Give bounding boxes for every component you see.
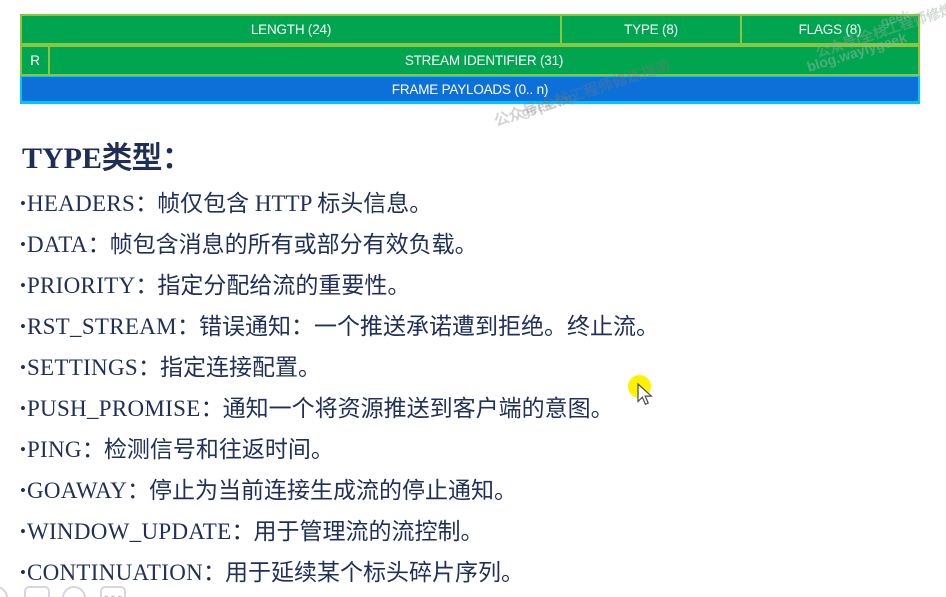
list-bullet: • [20,440,26,459]
frame-field-r-label: R [30,53,40,68]
list-item-desc: 检测信号和往返时间。 [104,437,334,462]
list-item-name: GOAWAY [27,478,127,503]
circle-icon[interactable] [0,586,8,597]
frame-payload-row: FRAME PAYLOADS (0.. n) [20,76,920,104]
list-bullet: • [20,194,26,213]
frame-field-type-label: TYPE (8) [624,22,678,37]
list-item-name: WINDOW_UPDATE [27,519,231,544]
more-options-icon[interactable]: ●●● [100,586,126,597]
page-title: TYPE类型： [22,133,192,177]
list-bullet: • [20,481,26,500]
frame-field-flags: FLAGS (8) [741,15,919,44]
list-item-desc: 通知一个将资源推送到客户端的意图。 [223,396,614,421]
list-item-name: PING [27,437,82,462]
list-item-name: PUSH_PROMISE [27,396,201,421]
frame-field-length-label: LENGTH (24) [251,22,331,37]
list-item-separator: ： [138,355,160,380]
list-item-separator: ： [203,560,225,585]
list-item-separator: ： [135,273,157,298]
list-item: •RST_STREAM：错误通知：一个推送承诺遭到拒绝。终止流。 [20,306,930,347]
frame-field-stream-identifier-label: STREAM IDENTIFIER (31) [405,53,563,68]
frame-header-row-1: LENGTH (24) TYPE (8) FLAGS (8) [20,14,920,45]
list-item-desc: 停止为当前连接生成流的停止通知。 [149,478,517,503]
list-item-desc: 帧包含消息的所有或部分有效负载。 [110,232,478,257]
bottom-toolbar[interactable]: ●●● [0,586,200,597]
presentation-icon[interactable] [24,586,50,597]
more-options-icon-glyph: ●●● [103,592,123,597]
list-bullet: • [20,563,26,582]
list-item-desc: 用于延续某个标头碎片序列。 [225,560,524,585]
list-bullet: • [20,276,26,295]
list-bullet: • [20,522,26,541]
list-bullet: • [20,317,26,336]
frame-field-length: LENGTH (24) [21,15,561,44]
frame-field-flags-label: FLAGS (8) [799,22,862,37]
list-item-name: RST_STREAM [27,314,177,339]
list-item: •WINDOW_UPDATE：用于管理流的流控制。 [20,511,930,552]
frame-field-payload: FRAME PAYLOADS (0.. n) [22,77,918,101]
list-item: •DATA：帧包含消息的所有或部分有效负载。 [20,224,930,265]
list-item-separator: ： [201,396,223,421]
list-item: •SETTINGS：指定连接配置。 [20,347,930,388]
list-item-name: SETTINGS [27,355,138,380]
list-item-separator: ： [177,314,199,339]
http2-frame-diagram: LENGTH (24) TYPE (8) FLAGS (8) R STREAM … [20,14,920,104]
list-item-name: HEADERS [27,191,135,216]
list-item-name: PRIORITY [27,273,135,298]
list-item: •HEADERS：帧仅包含 HTTP 标头信息。 [20,183,930,224]
record-icon[interactable] [62,586,86,597]
list-item: •PUSH_PROMISE：通知一个将资源推送到客户端的意图。 [20,388,930,429]
list-bullet: • [20,399,26,418]
list-item-separator: ： [127,478,149,503]
list-item-name: CONTINUATION [27,560,203,585]
frame-field-payload-label: FRAME PAYLOADS (0.. n) [392,82,548,97]
frame-header-row-2: R STREAM IDENTIFIER (31) [20,45,920,76]
list-item: •PING：检测信号和往返时间。 [20,429,930,470]
list-item-separator: ： [82,437,104,462]
list-item-name: DATA [27,232,88,257]
list-bullet: • [20,358,26,377]
list-item-desc: 错误通知：一个推送承诺遭到拒绝。终止流。 [199,314,659,339]
list-item-separator: ： [231,519,253,544]
list-item-desc: 指定连接配置。 [160,355,321,380]
list-item-separator: ： [88,232,110,257]
list-item-desc: 指定分配给流的重要性。 [157,273,410,298]
frame-field-type: TYPE (8) [561,15,741,44]
list-item: •GOAWAY：停止为当前连接生成流的停止通知。 [20,470,930,511]
list-item-desc: 用于管理流的流控制。 [253,519,483,544]
list-item-separator: ： [135,191,157,216]
list-item-desc: 帧仅包含 HTTP 标头信息。 [157,191,432,216]
frame-field-r: R [21,46,49,75]
list-bullet: • [20,235,26,254]
frame-field-stream-identifier: STREAM IDENTIFIER (31) [49,46,919,75]
type-list: •HEADERS：帧仅包含 HTTP 标头信息。 •DATA：帧包含消息的所有或… [20,183,930,593]
list-item: •PRIORITY：指定分配给流的重要性。 [20,265,930,306]
